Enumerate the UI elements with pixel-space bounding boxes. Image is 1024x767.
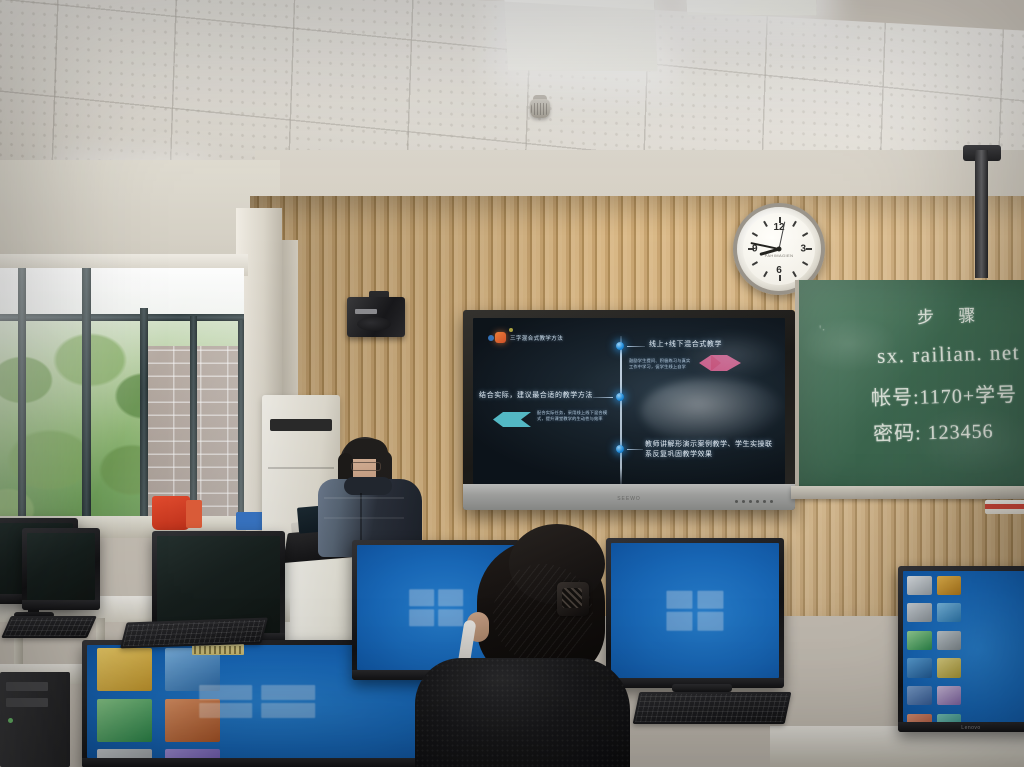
display-bezel: SEEWO	[463, 484, 795, 510]
monitor-brand-lenovo: Lenovo	[961, 725, 980, 731]
timeline-axis	[620, 336, 622, 484]
node-top-leader	[627, 346, 645, 347]
timeline-node-bottom	[616, 445, 624, 453]
wall-speaker	[347, 291, 409, 339]
screen-glare-secondary	[679, 331, 785, 377]
red-container-2	[186, 500, 202, 528]
slide-title-icon	[495, 332, 506, 343]
node-mid-leader	[593, 397, 613, 398]
timeline-node-mid	[616, 393, 624, 401]
desktop-pc-tower[interactable]	[0, 672, 70, 767]
accent-dot-blue	[488, 335, 494, 341]
window	[0, 268, 244, 538]
blackboard: 步 骤 sx. railian. net 帐号:1170+学号 密码: 1234…	[795, 280, 1024, 494]
monitor-screen[interactable]	[27, 533, 95, 600]
desktop-icon-grid[interactable]	[907, 576, 961, 715]
clock-brand: PAHIMAGIEN	[765, 253, 794, 258]
smart-interactive-display[interactable]: 三字混合式教学方法 线上+线下混合式教学 鼓励学生提问、积极练习与真实 工作中学…	[463, 310, 795, 510]
clock-numeral-6: 6	[776, 265, 782, 276]
projector-mount-pole	[975, 150, 988, 278]
chalk-box	[985, 500, 1024, 514]
slide-title-text: 三字混合式教学方法	[510, 334, 563, 342]
keyboard-center[interactable]	[633, 692, 792, 724]
monitor-far-left-2[interactable]	[22, 528, 100, 610]
slide-title: 三字混合式教学方法	[495, 332, 563, 343]
power-led-icon	[8, 718, 13, 723]
classroom-scene: 12 3 6 9 PAHIMAGIEN 三字混合式教学方法	[0, 0, 1024, 767]
screen-glare	[641, 378, 785, 444]
smoke-detector-icon	[527, 95, 553, 125]
windows-logo-icon	[666, 590, 723, 631]
teacher	[318, 437, 422, 557]
keyboard-left-1[interactable]	[1, 616, 97, 638]
glasses-icon	[351, 462, 381, 471]
timeline-node-top	[616, 342, 624, 350]
windows-logo-icon	[199, 685, 315, 719]
node-mid-sub: 配合实际任务，采用线上线下混合模 式，提升课堂教学的生动性与效率	[537, 410, 609, 422]
display-button-row[interactable]	[735, 500, 773, 503]
chalk-tray	[791, 486, 1024, 499]
accent-dot-yellow	[509, 328, 513, 332]
monitor-base	[672, 684, 732, 692]
student-desk-right	[770, 726, 1024, 767]
student-foreground	[415, 524, 630, 767]
hair-clip	[557, 582, 589, 616]
monitor-right[interactable]: Lenovo	[898, 566, 1024, 732]
cyan-chevron-marker	[491, 410, 533, 434]
clock-numeral-3: 3	[800, 244, 806, 255]
monitor-right-of-student[interactable]	[606, 538, 784, 688]
display-brand: SEEWO	[617, 496, 641, 502]
monitor-screen[interactable]	[903, 571, 1024, 722]
red-container	[152, 496, 190, 530]
node-bottom-leader	[627, 449, 643, 450]
keyboard-left-2[interactable]	[120, 618, 268, 649]
display-screen[interactable]: 三字混合式教学方法 线上+线下混合式教学 鼓励学生提问、积极练习与真实 工作中学…	[473, 318, 785, 484]
monitor-screen[interactable]	[611, 543, 779, 678]
node-mid-label: 结合实际，建议最合适的教学方法	[479, 390, 593, 400]
